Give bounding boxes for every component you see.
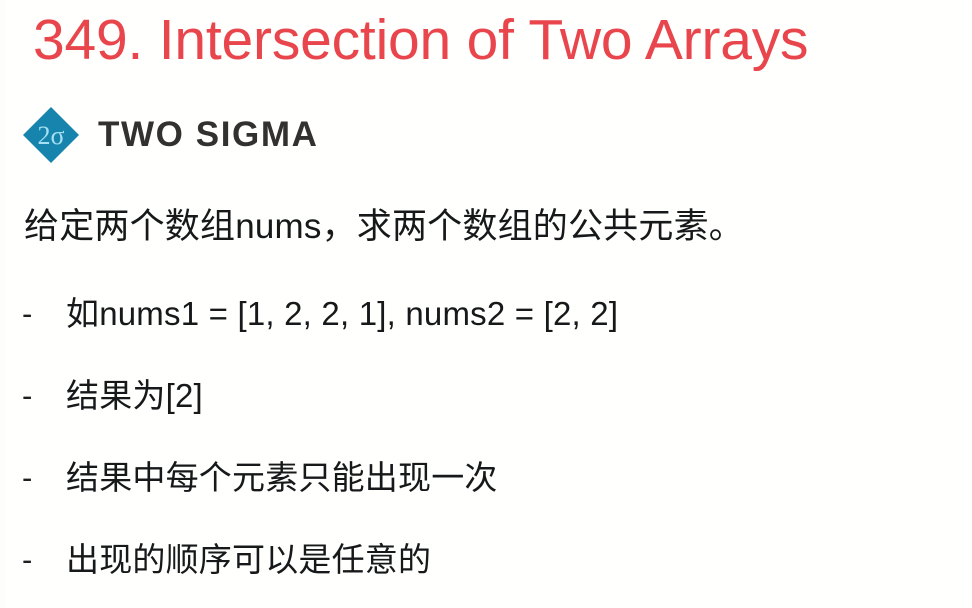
two-sigma-wordmark: TWO SIGMA [98,115,319,155]
list-item: - 结果为[2] [20,374,960,456]
list-item: - 结果中每个元素只能出现一次 [20,456,960,538]
left-edge-gutter [0,0,6,608]
list-item-label: 结果为[2] [66,374,203,418]
bullet-dash-icon: - [20,456,66,500]
list-item: - 出现的顺序可以是任意的 [20,538,960,608]
two-sigma-diamond-icon: 2σ [22,106,80,164]
list-item-label: 出现的顺序可以是任意的 [66,538,431,582]
list-item: - 如nums1 = [1, 2, 2, 1], nums2 = [2, 2] [20,292,960,374]
bullet-dash-icon: - [20,538,66,582]
svg-text:2σ: 2σ [37,121,64,150]
slide-title: 349. Intersection of Two Arrays [33,2,963,78]
bullet-dash-icon: - [20,374,66,418]
bullet-dash-icon: - [20,292,66,336]
problem-description: 给定两个数组nums，求两个数组的公共元素。 [24,203,744,251]
bullet-list: - 如nums1 = [1, 2, 2, 1], nums2 = [2, 2] … [20,292,960,608]
presentation-slide: 349. Intersection of Two Arrays 2σ TWO S… [0,0,972,608]
list-item-label: 结果中每个元素只能出现一次 [66,456,498,500]
two-sigma-logo: 2σ TWO SIGMA [22,104,319,166]
list-item-label: 如nums1 = [1, 2, 2, 1], nums2 = [2, 2] [66,292,618,336]
